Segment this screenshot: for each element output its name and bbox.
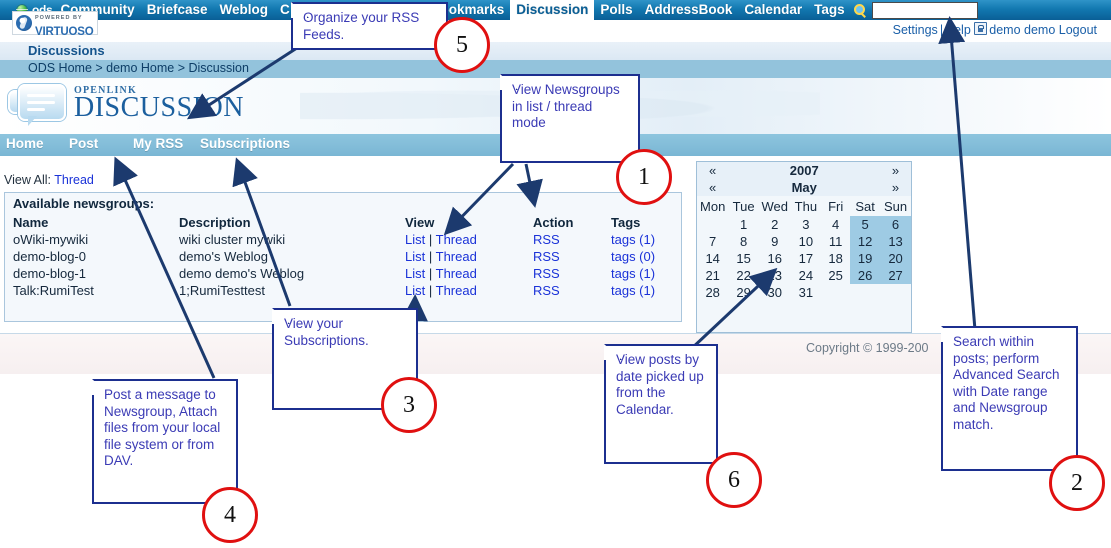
calendar-month-label: May xyxy=(728,179,880,196)
breadcrumb[interactable]: ODS Home > demo Home > Discussion xyxy=(28,61,249,75)
calendar-day[interactable]: 31 xyxy=(791,284,822,301)
calendar-day[interactable] xyxy=(880,284,911,301)
breadcrumb-band: ODS Home > demo Home > Discussion xyxy=(0,60,1111,78)
dow-sat: Sat xyxy=(850,196,880,216)
link-list[interactable]: List xyxy=(405,283,425,298)
newsgroups-table: Name Description View Action Tags oWiki-… xyxy=(13,214,661,299)
view-all-thread-link[interactable]: Thread xyxy=(54,173,94,187)
column-header-action: Action xyxy=(533,214,611,231)
cell-action: RSS xyxy=(533,248,611,265)
calendar-day[interactable]: 6 xyxy=(880,216,911,233)
callout-number-2: 2 xyxy=(1049,455,1105,511)
calendar-day[interactable]: 3 xyxy=(791,216,822,233)
column-header-description: Description xyxy=(179,214,405,231)
calendar-day[interactable]: 21 xyxy=(697,267,728,284)
callout-fold-corner xyxy=(92,379,110,395)
cell-view: List | Thread xyxy=(405,231,533,248)
app-banner: OPENLINK DISCUSSION xyxy=(0,78,1111,134)
calendar-week-row: 21 22 23 24 25 26 27 xyxy=(697,267,911,284)
cell-name: oWiki-mywiki xyxy=(13,231,179,248)
cell-name: demo-blog-1 xyxy=(13,265,179,282)
calendar-day[interactable]: 19 xyxy=(850,250,880,267)
help-link[interactable]: Help xyxy=(945,23,971,37)
sub-navigation-bar: Home Post My RSS Subscriptions xyxy=(0,134,1111,156)
cell-description: 1;RumiTesttest xyxy=(179,282,405,299)
link-tags[interactable]: tags (0) xyxy=(611,249,655,264)
dow-wed: Wed xyxy=(759,196,791,216)
logo-discussion: DISCUSSION xyxy=(74,94,244,122)
account-sep-1: | xyxy=(938,23,945,37)
calendar-day[interactable]: 25 xyxy=(821,267,850,284)
cell-action: RSS xyxy=(533,231,611,248)
calendar-day[interactable]: 15 xyxy=(728,250,759,267)
calendar-day[interactable]: 8 xyxy=(728,233,759,250)
table-row: demo-blog-0 demo's Weblog List | Thread … xyxy=(13,248,661,265)
calendar-day[interactable] xyxy=(697,216,728,233)
dow-thu: Thu xyxy=(791,196,822,216)
view-separator: | xyxy=(429,266,432,281)
newsgroups-heading: Available newsgroups: xyxy=(13,196,154,211)
calendar-day[interactable]: 5 xyxy=(850,216,880,233)
cell-tags: tags (0) xyxy=(611,248,661,265)
calendar-day[interactable]: 27 xyxy=(880,267,911,284)
page-title: Discussions xyxy=(28,43,105,58)
subnav-item-home[interactable]: Home xyxy=(6,136,44,151)
cell-name: demo-blog-0 xyxy=(13,248,179,265)
calendar-day[interactable]: 18 xyxy=(821,250,850,267)
link-rss[interactable]: RSS xyxy=(533,283,560,298)
banner-background-graphic xyxy=(300,82,820,130)
view-separator: | xyxy=(429,249,432,264)
callout-number-3: 3 xyxy=(381,377,437,433)
column-header-view: View xyxy=(405,214,533,231)
cell-tags: tags (1) xyxy=(611,282,661,299)
calendar-day[interactable]: 30 xyxy=(759,284,791,301)
calendar-day[interactable] xyxy=(850,284,880,301)
link-thread[interactable]: Thread xyxy=(436,283,477,298)
column-header-tags: Tags xyxy=(611,214,661,231)
calendar-day[interactable]: 9 xyxy=(759,233,791,250)
view-separator: | xyxy=(429,283,432,298)
calendar-week-row: 7 8 9 10 11 12 13 xyxy=(697,233,911,250)
callout-text-4: Post a message to Newsgroup, Attach file… xyxy=(104,387,222,470)
calendar-day[interactable]: 7 xyxy=(697,233,728,250)
nav-item-tags[interactable]: Tags xyxy=(808,0,851,20)
dow-fri: Fri xyxy=(821,196,850,216)
calendar-week-row: 1 2 3 4 5 6 xyxy=(697,216,911,233)
link-list[interactable]: List xyxy=(405,232,425,247)
cell-description: demo's Weblog xyxy=(179,248,405,265)
calendar-table: « 2007 » « May » Mon Tue Wed Thu Fri Sat… xyxy=(697,162,911,301)
link-tags[interactable]: tags (1) xyxy=(611,283,655,298)
subnav-item-subscriptions[interactable]: Subscriptions xyxy=(200,136,290,151)
link-rss[interactable]: RSS xyxy=(533,232,560,247)
nav-item-bookmarks[interactable]: Bookmarks xyxy=(425,0,511,20)
next-year-button[interactable]: » xyxy=(880,162,911,179)
callout-number-4: 4 xyxy=(202,487,258,543)
cell-description: wiki cluster mywiki xyxy=(179,231,405,248)
calendar-year-label: 2007 xyxy=(728,162,880,179)
callout-box-4: Post a message to Newsgroup, Attach file… xyxy=(92,379,238,504)
cell-action: RSS xyxy=(533,282,611,299)
page-title-band: Discussions xyxy=(0,42,1111,60)
calendar-day[interactable]: 17 xyxy=(791,250,822,267)
calendar-day[interactable]: 2 xyxy=(759,216,791,233)
nav-item-c[interactable]: C xyxy=(274,0,296,20)
settings-link[interactable]: Settings xyxy=(893,23,938,37)
nav-item-briefcase[interactable]: Briefcase xyxy=(141,0,214,20)
available-newsgroups-panel: Available newsgroups: Name Description V… xyxy=(4,192,682,322)
link-thread[interactable]: Thread xyxy=(436,232,477,247)
link-rss[interactable]: RSS xyxy=(533,249,560,264)
calendar-day[interactable]: 13 xyxy=(880,233,911,250)
cell-action: RSS xyxy=(533,265,611,282)
calendar-day[interactable]: 24 xyxy=(791,267,822,284)
calendar-day[interactable] xyxy=(821,284,850,301)
view-all-label: View All: xyxy=(4,173,51,187)
next-month-button[interactable]: » xyxy=(880,179,911,196)
dow-sun: Sun xyxy=(880,196,911,216)
subnav-item-post[interactable]: Post xyxy=(69,136,98,151)
link-list[interactable]: List xyxy=(405,249,425,264)
calendar-day[interactable]: 23 xyxy=(759,267,791,284)
table-row: Talk:RumiTest 1;RumiTesttest List | Thre… xyxy=(13,282,661,299)
calendar-day[interactable]: 20 xyxy=(880,250,911,267)
logout-link[interactable]: Logout xyxy=(1059,23,1097,37)
link-list[interactable]: List xyxy=(405,266,425,281)
calendar-week-row: 14 15 16 17 18 19 20 xyxy=(697,250,911,267)
prev-year-button[interactable]: « xyxy=(697,162,728,179)
link-thread[interactable]: Thread xyxy=(436,249,477,264)
calendar-day[interactable]: 4 xyxy=(821,216,850,233)
cell-name: Talk:RumiTest xyxy=(13,282,179,299)
cell-description: demo demo's Weblog xyxy=(179,265,405,282)
nav-item-calendar[interactable]: Calendar xyxy=(738,0,808,20)
link-tags[interactable]: tags (1) xyxy=(611,232,655,247)
lock-icon xyxy=(974,22,987,35)
cell-view: List | Thread xyxy=(405,265,533,282)
current-user-label: demo demo xyxy=(989,23,1055,37)
calendar-day[interactable]: 1 xyxy=(728,216,759,233)
newsgroups-header-row: Name Description View Action Tags xyxy=(13,214,661,231)
prev-month-button[interactable]: « xyxy=(697,179,728,196)
link-thread[interactable]: Thread xyxy=(436,266,477,281)
cell-view: List | Thread xyxy=(405,248,533,265)
calendar-month-row: « May » xyxy=(697,179,911,196)
nav-item-polls[interactable]: Polls xyxy=(594,0,638,20)
discussion-app-screenshot: ods Community Briefcase Weblog C ail Boo… xyxy=(0,0,1111,548)
link-rss[interactable]: RSS xyxy=(533,266,560,281)
link-tags[interactable]: tags (1) xyxy=(611,266,655,281)
nav-item-mail[interactable]: ail xyxy=(296,0,425,20)
calendar-dow-row: Mon Tue Wed Thu Fri Sat Sun xyxy=(697,196,911,216)
subnav-item-my-rss[interactable]: My RSS xyxy=(133,136,183,151)
account-links: Settings|Help demo demo Logout xyxy=(893,22,1097,37)
virtuoso-name-label: VIRTUOSO xyxy=(35,26,93,38)
calendar-day[interactable]: 29 xyxy=(728,284,759,301)
calendar-day[interactable]: 10 xyxy=(791,233,822,250)
calendar-day[interactable]: 28 xyxy=(697,284,728,301)
calendar-year-row: « 2007 » xyxy=(697,162,911,179)
search-input[interactable] xyxy=(872,2,978,19)
table-row: demo-blog-1 demo demo's Weblog List | Th… xyxy=(13,265,661,282)
dow-tue: Tue xyxy=(728,196,759,216)
virtuoso-badge[interactable]: POWERED BY VIRTUOSO xyxy=(12,11,98,35)
copyright-text: Copyright © 1999-200 xyxy=(806,341,928,355)
calendar-day[interactable]: 14 xyxy=(697,250,728,267)
nav-item-weblog[interactable]: Weblog xyxy=(213,0,274,20)
nav-item-discussion[interactable]: Discussion xyxy=(510,0,594,20)
discussion-bubble-icon xyxy=(8,84,66,128)
calendar-day[interactable]: 26 xyxy=(850,267,880,284)
calendar-day[interactable]: 12 xyxy=(850,233,880,250)
nav-item-addressbook[interactable]: AddressBook xyxy=(639,0,739,20)
cell-tags: tags (1) xyxy=(611,265,661,282)
view-separator: | xyxy=(429,232,432,247)
search-icon[interactable] xyxy=(851,0,869,20)
calendar-day[interactable]: 11 xyxy=(821,233,850,250)
page-footer xyxy=(0,334,1111,374)
calendar-day[interactable]: 22 xyxy=(728,267,759,284)
virtuoso-powered-label: POWERED BY xyxy=(35,15,83,21)
dow-mon: Mon xyxy=(697,196,728,216)
mini-calendar: « 2007 » « May » Mon Tue Wed Thu Fri Sat… xyxy=(696,161,912,333)
view-all-row: View All: Thread xyxy=(4,173,94,187)
calendar-day[interactable]: 16 xyxy=(759,250,791,267)
calendar-week-row: 28 29 30 31 xyxy=(697,284,911,301)
cell-view: List | Thread xyxy=(405,282,533,299)
top-navigation-bar: ods Community Briefcase Weblog C ail Boo… xyxy=(0,0,1111,20)
cell-tags: tags (1) xyxy=(611,231,661,248)
table-row: oWiki-mywiki wiki cluster mywiki List | … xyxy=(13,231,661,248)
virtuoso-swirl-icon xyxy=(16,15,32,31)
column-header-name: Name xyxy=(13,214,179,231)
app-logo-text: OPENLINK DISCUSSION xyxy=(74,85,244,122)
callout-number-6: 6 xyxy=(706,452,762,508)
